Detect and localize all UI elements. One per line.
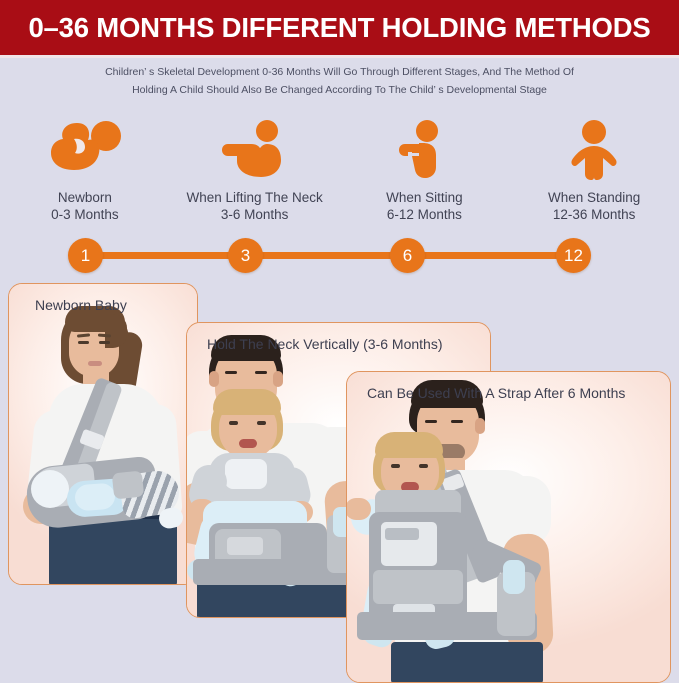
baby-lying-icon xyxy=(43,120,127,182)
header-divider xyxy=(0,55,679,58)
photo-newborn-carry xyxy=(9,284,197,584)
photo-card-strap[interactable]: Can Be Used With A Strap After 6 Months xyxy=(346,371,671,683)
stage-title: When Lifting The Neck xyxy=(186,189,322,206)
card-caption-strap: Can Be Used With A Strap After 6 Months xyxy=(367,385,625,401)
stage-age: 0-3 Months xyxy=(51,206,119,223)
stage-standing: When Standing 12-36 Months xyxy=(509,120,679,220)
page-title: 0–36 MONTHS DIFFERENT HOLDING METHODS xyxy=(28,12,650,44)
subtitle-block: Children’ s Skeletal Development 0-36 Mo… xyxy=(0,63,679,99)
stage-age: 12-36 Months xyxy=(548,206,640,223)
stage-title: When Sitting xyxy=(386,189,463,206)
timeline-connector xyxy=(85,252,573,259)
stage-title: Newborn xyxy=(51,189,119,206)
photo-card-newborn[interactable]: Newborn Baby xyxy=(8,283,198,585)
baby-standing-icon xyxy=(565,120,623,182)
timeline-node-12[interactable]: 12 xyxy=(556,238,591,273)
stage-age: 6-12 Months xyxy=(386,206,463,223)
timeline-node-3[interactable]: 3 xyxy=(228,238,263,273)
card-caption-newborn: Newborn Baby xyxy=(35,297,127,313)
subtitle-line-2: Holding A Child Should Also Be Changed A… xyxy=(0,81,679,99)
header-banner: 0–36 MONTHS DIFFERENT HOLDING METHODS xyxy=(0,0,679,55)
timeline-node-6[interactable]: 6 xyxy=(390,238,425,273)
stage-newborn: Newborn 0-3 Months xyxy=(0,120,170,220)
stage-label-lifting-neck: When Lifting The Neck 3-6 Months xyxy=(186,189,322,223)
subtitle-line-1: Children’ s Skeletal Development 0-36 Mo… xyxy=(0,63,679,81)
stage-sitting: When Sitting 6-12 Months xyxy=(340,120,510,220)
photo-strap-carrier xyxy=(347,372,670,682)
stage-lifting-neck: When Lifting The Neck 3-6 Months xyxy=(170,120,340,220)
stage-age: 3-6 Months xyxy=(186,206,322,223)
stage-title: When Standing xyxy=(548,189,640,206)
baby-sitting-icon xyxy=(395,120,453,182)
stage-label-newborn: Newborn 0-3 Months xyxy=(51,189,119,223)
stage-label-sitting: When Sitting 6-12 Months xyxy=(386,189,463,223)
timeline-node-1[interactable]: 1 xyxy=(68,238,103,273)
timeline: 1 3 6 12 xyxy=(0,238,679,274)
card-caption-hold-neck: Hold The Neck Vertically (3-6 Months) xyxy=(207,336,443,352)
stages-row: Newborn 0-3 Months When Lifting The Neck… xyxy=(0,120,679,220)
stage-label-standing: When Standing 12-36 Months xyxy=(548,189,640,223)
baby-head-lifting-icon xyxy=(217,120,293,182)
